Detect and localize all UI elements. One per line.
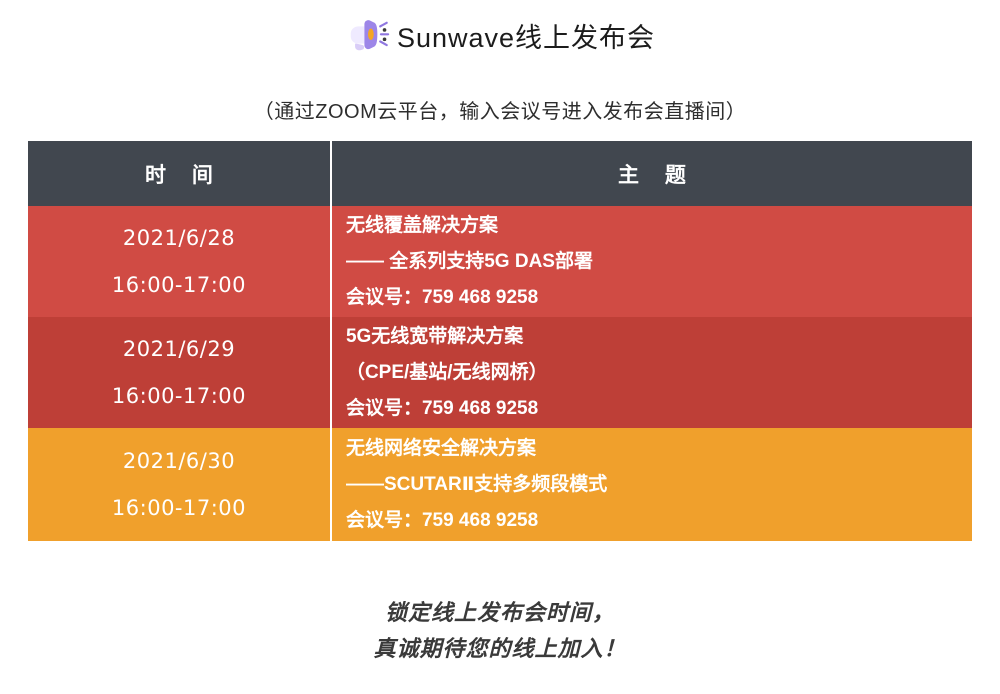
table-row: 2021/6/29 16:00-17:00 5G无线宽带解决方案 （CPE/基站…: [28, 317, 972, 428]
table-row: 2021/6/30 16:00-17:00 无线网络安全解决方案 ——SCUTA…: [28, 428, 972, 541]
session-topic-cell: 无线网络安全解决方案 ——SCUTARⅡ支持多频段模式 会议号：759 468 …: [330, 428, 972, 541]
session-topic-title: 无线覆盖解决方案: [346, 216, 971, 235]
session-time-cell: 2021/6/28 16:00-17:00: [28, 206, 330, 317]
footer-line-1: 锁定线上发布会时间，: [0, 595, 1000, 631]
session-time: 16:00-17:00: [29, 498, 329, 519]
session-date: 2021/6/29: [29, 339, 329, 360]
session-time: 16:00-17:00: [29, 275, 329, 296]
session-time-cell: 2021/6/30 16:00-17:00: [28, 428, 330, 541]
session-time: 16:00-17:00: [29, 386, 329, 407]
footer-line-2: 真诚期待您的线上加入！: [0, 631, 1000, 667]
footer-message: 锁定线上发布会时间， 真诚期待您的线上加入！: [0, 595, 1000, 667]
session-topic-detail: （CPE/基站/无线网桥）: [346, 363, 971, 382]
session-date: 2021/6/28: [29, 228, 329, 249]
page-title-row: Sunwave线上发布会: [0, 0, 1000, 64]
session-meeting-id: 会议号：759 468 9258: [346, 399, 971, 418]
session-time-cell: 2021/6/29 16:00-17:00: [28, 317, 330, 428]
column-header-topic-label: 主 题: [608, 164, 696, 187]
session-topic-detail: —— 全系列支持5G DAS部署: [346, 252, 971, 271]
table-header-row: 时 间 主 题: [28, 141, 972, 206]
session-meeting-id: 会议号：759 468 9258: [346, 511, 971, 530]
megaphone-icon: [345, 12, 391, 58]
column-header-time: 时 间: [28, 141, 330, 206]
session-topic-title: 无线网络安全解决方案: [346, 439, 971, 458]
poster-page: Sunwave线上发布会 （通过ZOOM云平台，输入会议号进入发布会直播间） 时…: [0, 0, 1000, 694]
page-title: Sunwave线上发布会: [397, 16, 655, 55]
column-header-time-label: 时 间: [135, 164, 223, 187]
session-topic-cell: 无线覆盖解决方案 —— 全系列支持5G DAS部署 会议号：759 468 92…: [330, 206, 972, 317]
table-row: 2021/6/28 16:00-17:00 无线覆盖解决方案 —— 全系列支持5…: [28, 206, 972, 317]
session-topic-detail: ——SCUTARⅡ支持多频段模式: [346, 475, 971, 494]
column-header-topic: 主 题: [330, 141, 972, 206]
session-date: 2021/6/30: [29, 451, 329, 472]
session-meeting-id: 会议号：759 468 9258: [346, 288, 971, 307]
schedule-table-body: 2021/6/28 16:00-17:00 无线覆盖解决方案 —— 全系列支持5…: [28, 206, 972, 541]
schedule-table-head: 时 间 主 题: [28, 141, 972, 206]
schedule-table: 时 间 主 题 2021/6/28 16:00-17:00 无线覆盖解决方案 —…: [28, 141, 972, 541]
page-subtitle: （通过ZOOM云平台，输入会议号进入发布会直播间）: [0, 95, 1000, 124]
session-topic-cell: 5G无线宽带解决方案 （CPE/基站/无线网桥） 会议号：759 468 925…: [330, 317, 972, 428]
session-topic-title: 5G无线宽带解决方案: [346, 327, 971, 346]
